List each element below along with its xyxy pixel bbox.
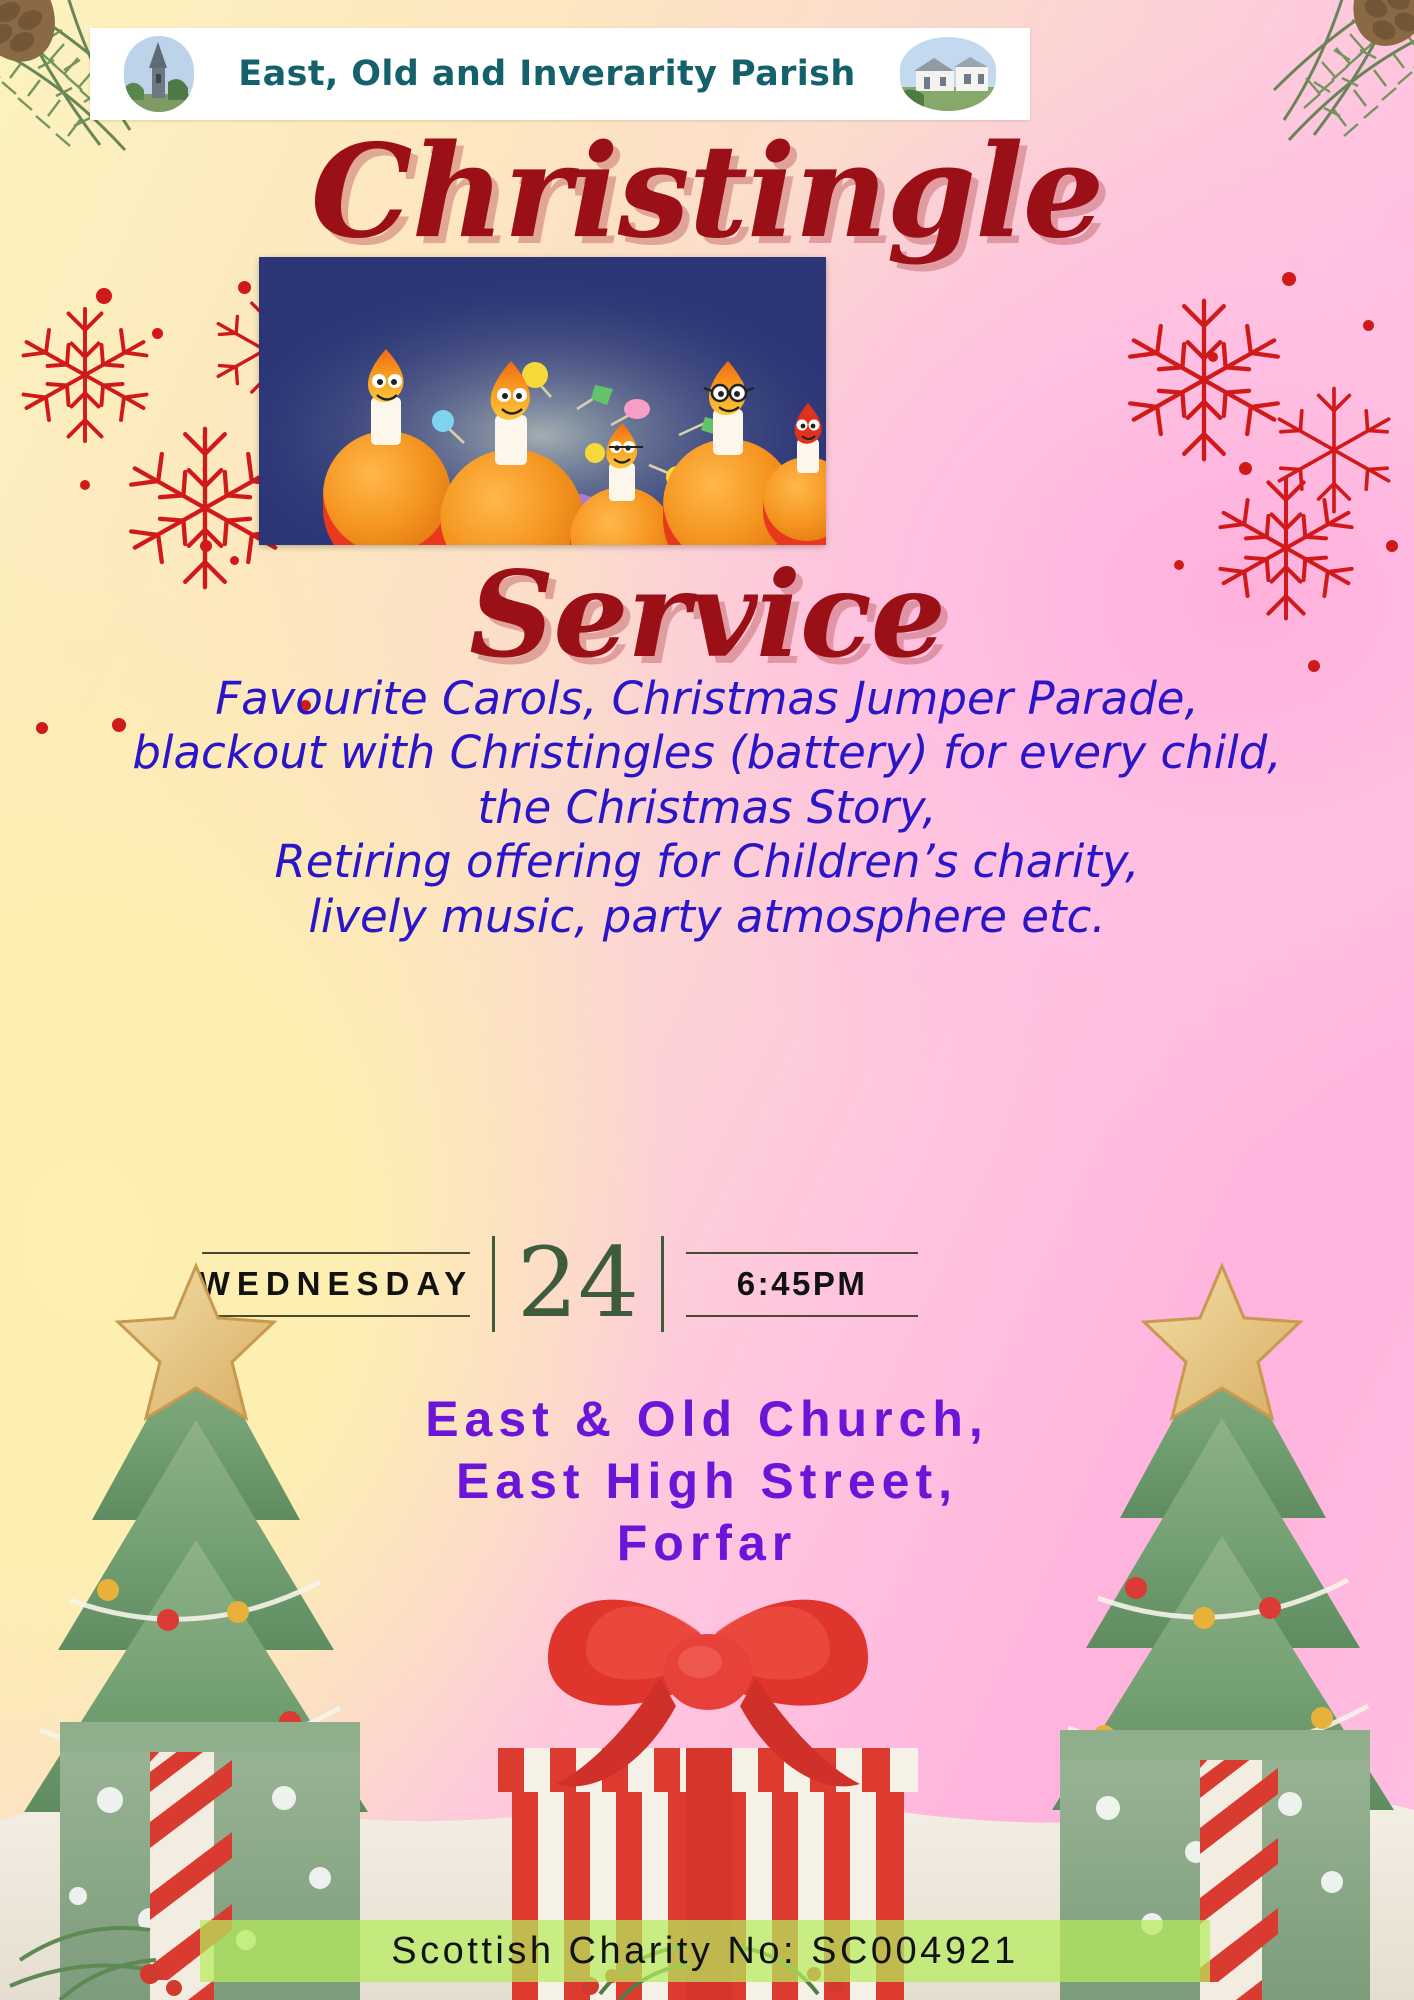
weekday-cell: WEDNESDAY [202,1252,470,1317]
decor-dot [238,281,251,294]
charity-number-text: Scottish Charity No: SC004921 [391,1930,1018,1973]
description-line: lively music, party atmosphere etc. [70,890,1344,944]
white-church-photo [900,37,996,111]
charity-number-band: Scottish Charity No: SC004921 [200,1920,1210,1982]
snowflake-icon [10,300,160,450]
divider-left [492,1236,495,1332]
christingle-illustration [259,257,826,545]
page-title-service: Service [0,556,1414,674]
snowflake-icon [1114,290,1294,470]
description-line: the Christmas Story, [70,781,1344,835]
event-day-number: 24 [517,1238,639,1329]
divider-right [661,1236,664,1332]
red-bow [548,1600,868,1787]
page-title-christingle: Christingle [0,128,1414,256]
venue-line: Forfar [0,1512,1414,1574]
event-time: 6:45PM [737,1254,868,1315]
description-line: Favourite Carols, Christmas Jumper Parad… [70,672,1344,726]
event-venue: East & Old Church, East High Street, For… [0,1388,1414,1574]
venue-line: East High Street, [0,1450,1414,1512]
bottom-christmas-scene [0,1260,1414,2000]
description-line: Retiring offering for Children’s charity… [70,835,1344,889]
church-spire-photo [124,36,194,112]
decor-dot [152,328,163,339]
service-description: Favourite Carols, Christmas Jumper Parad… [70,672,1344,944]
event-weekday: WEDNESDAY [199,1254,474,1315]
decor-dot [96,288,112,304]
decor-dot [1282,272,1296,286]
decor-dot [36,722,48,734]
event-datetime: WEDNESDAY 24 6:45PM [190,1228,930,1340]
description-line: blackout with Christingles (battery) for… [70,726,1344,780]
venue-line: East & Old Church, [0,1388,1414,1450]
pine-sprig-bottom-left [10,1928,156,2000]
decor-dot [1363,320,1374,331]
decor-dot [80,480,90,490]
holly-berries-bottom-left [140,1964,182,1996]
decor-dot [1208,352,1218,362]
decor-dot [200,540,212,552]
time-cell: 6:45PM [686,1252,918,1317]
pinecone-icon [1338,0,1414,60]
poster: East, Old and Inverarity Parish Christin… [0,0,1414,2000]
parish-header-banner: East, Old and Inverarity Parish [90,28,1030,120]
parish-title: East, Old and Inverarity Parish [194,54,900,94]
decor-dot [1386,540,1398,552]
rule-bottom [686,1315,918,1317]
decor-dot [1239,462,1252,475]
pinecone-icon [0,0,72,77]
snowflake-icon [1264,380,1404,520]
rule-bottom [202,1315,470,1317]
